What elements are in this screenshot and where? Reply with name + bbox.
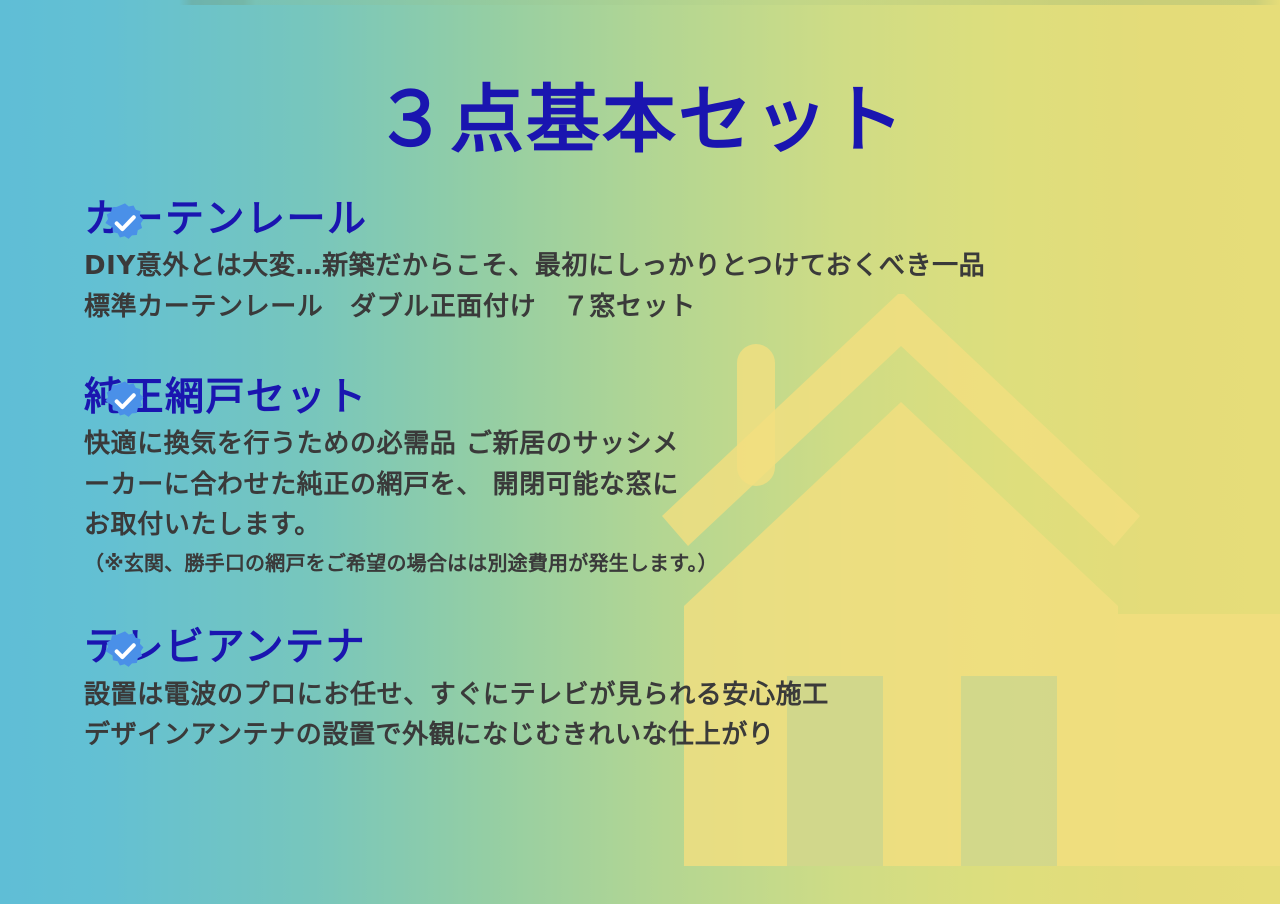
- poster-content: ３点基本セット カーテンレール DIY意外とは大変…新築だからこそ、最初にしっか…: [0, 0, 1280, 904]
- feature-line: DIY意外とは大変…新築だからこそ、最初にしっかりとつけておくべき一品: [84, 246, 1254, 287]
- feature-heading: カーテンレール: [84, 196, 1254, 245]
- feature-line: お取付いたします。: [84, 505, 1254, 546]
- check-badge-icon: [104, 630, 146, 672]
- check-badge-icon: [104, 202, 146, 244]
- list-item: カーテンレール DIY意外とは大変…新築だからこそ、最初にしっかりとつけておくべ…: [26, 196, 1254, 328]
- list-item: 純正網戸セット 快適に換気を行うための必需品 ご新居のサッシメ ーカーに合わせた…: [26, 374, 1254, 580]
- feature-line: デザインアンテナの設置で外観になじむきれいな仕上がり: [84, 715, 1254, 756]
- promo-poster: ３点基本セット カーテンレール DIY意外とは大変…新築だからこそ、最初にしっか…: [0, 0, 1280, 904]
- feature-line: 快適に換気を行うための必需品 ご新居のサッシメ: [84, 424, 1254, 465]
- feature-body: 設置は電波のプロにお任せ、すぐにテレビが見られる安心施工 デザインアンテナの設置…: [84, 675, 1254, 756]
- check-badge-icon: [104, 380, 146, 422]
- feature-note: （※玄関、勝手口の網戸をご希望の場合はは別途費用が発生します。）: [84, 546, 1254, 580]
- feature-heading: 純正網戸セット: [84, 374, 1254, 423]
- feature-line: 設置は電波のプロにお任せ、すぐにテレビが見られる安心施工: [84, 675, 1254, 716]
- feature-heading: テレビアンテナ: [84, 624, 1254, 673]
- feature-body: 快適に換気を行うための必需品 ご新居のサッシメ ーカーに合わせた純正の網戸を、 …: [84, 424, 1254, 580]
- feature-body: DIY意外とは大変…新築だからこそ、最初にしっかりとつけておくべき一品 標準カー…: [84, 246, 1254, 327]
- feature-line: ーカーに合わせた純正の網戸を、 開閉可能な窓に: [84, 465, 1254, 506]
- page-title: ３点基本セット: [26, 0, 1254, 160]
- feature-line: 標準カーテンレール ダブル正面付け ７窓セット: [84, 287, 1254, 328]
- list-item: テレビアンテナ 設置は電波のプロにお任せ、すぐにテレビが見られる安心施工 デザイ…: [26, 624, 1254, 756]
- feature-list: カーテンレール DIY意外とは大変…新築だからこそ、最初にしっかりとつけておくべ…: [26, 196, 1254, 756]
